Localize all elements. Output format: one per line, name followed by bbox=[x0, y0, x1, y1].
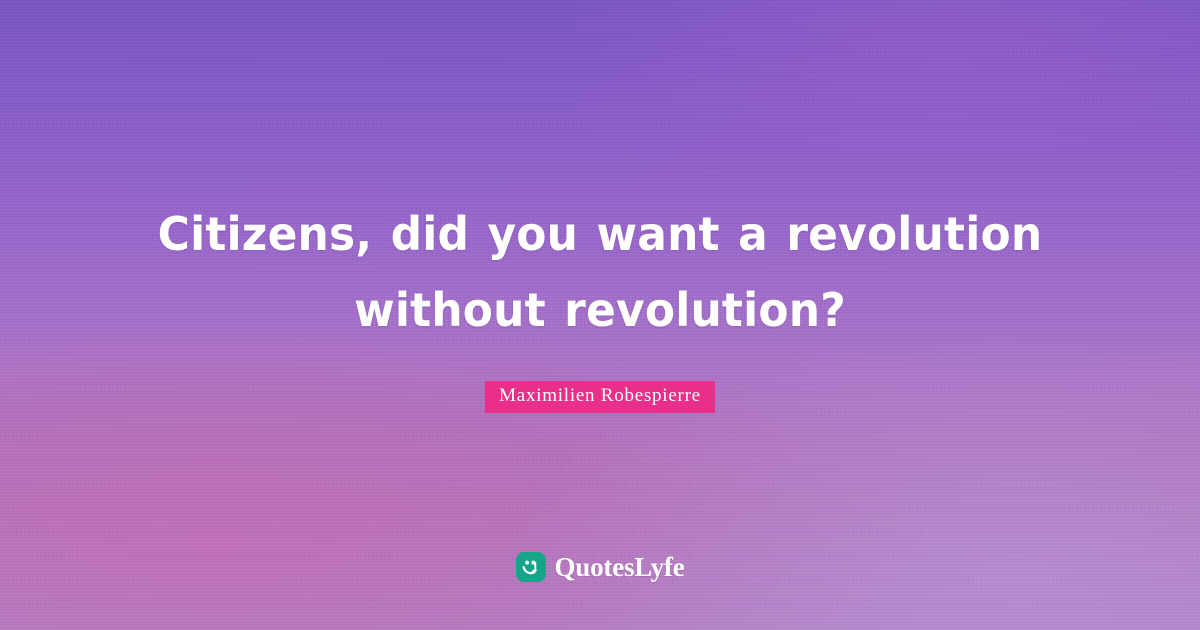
brand-name-text: QuotesLyfe bbox=[555, 554, 685, 581]
quote-card: Citizens, did you want a revolution with… bbox=[0, 0, 1200, 630]
quoteslyfe-smiley-quote-icon bbox=[516, 552, 546, 582]
author-name-badge: Maximilien Robespierre bbox=[485, 381, 715, 413]
card-content: Citizens, did you want a revolution with… bbox=[0, 0, 1200, 630]
brand-logo[interactable]: QuotesLyfe bbox=[0, 552, 1200, 582]
quote-text: Citizens, did you want a revolution with… bbox=[123, 196, 1078, 348]
author-badge-container: Maximilien Robespierre bbox=[0, 381, 1200, 413]
